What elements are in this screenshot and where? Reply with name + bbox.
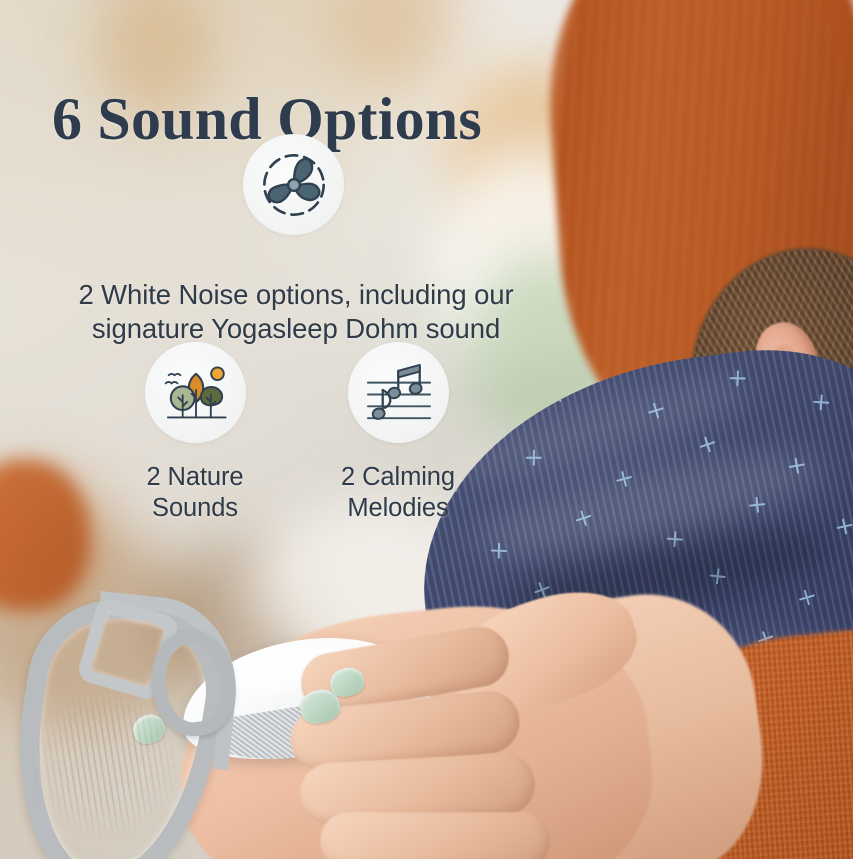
white-noise-description: 2 White Noise options, including our sig… <box>26 278 566 348</box>
nature-caption-line-1: 2 Nature <box>105 462 285 493</box>
music-notes-icon <box>362 356 436 430</box>
nature-caption-line-2: Sounds <box>105 493 285 524</box>
melodies-caption-line-1: 2 Calming <box>308 462 488 493</box>
trees-nature-icon <box>159 356 233 430</box>
melodies-caption: 2 Calming Melodies <box>308 462 488 524</box>
fan-icon <box>255 146 333 224</box>
overlay-content: 6 Sound Options 2 White Noise options, i… <box>0 0 853 859</box>
nature-caption: 2 Nature Sounds <box>105 462 285 524</box>
page-title: 6 Sound Options <box>0 88 853 151</box>
melodies-icon-badge <box>348 342 449 443</box>
product-feature-graphic: 6 Sound Options 2 White Noise options, i… <box>0 0 853 859</box>
nature-icon-badge <box>145 342 246 443</box>
white-noise-icon-badge <box>243 134 344 235</box>
melodies-caption-line-2: Melodies <box>308 493 488 524</box>
